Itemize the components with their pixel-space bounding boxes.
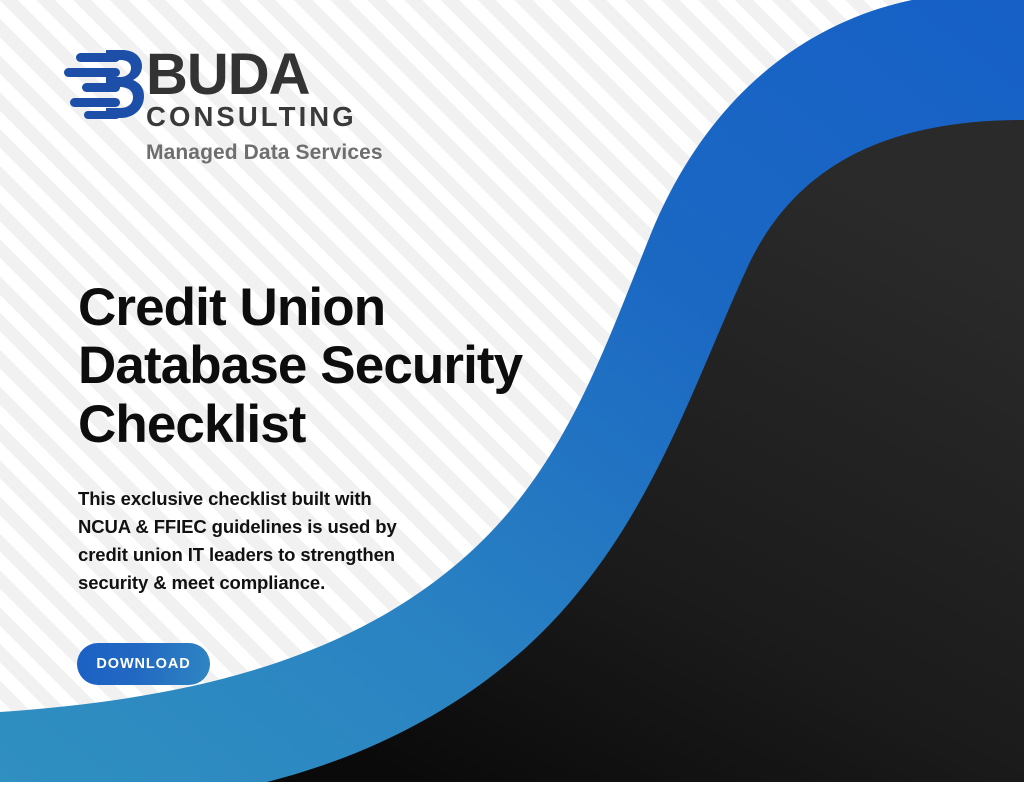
download-button[interactable]: DOWNLOAD [77, 643, 210, 685]
brand-logo: BUDA CONSULTING Managed Data Services [62, 46, 482, 165]
buda-b-speedlines-icon [62, 48, 144, 120]
logo-tagline: Managed Data Services [146, 141, 482, 165]
body-paragraph: This exclusive checklist built with NCUA… [78, 485, 478, 598]
logo-text-consulting: CONSULTING [146, 103, 357, 132]
body-line-1: This exclusive checklist built with [78, 485, 478, 513]
flyer-canvas: BUDA CONSULTING Managed Data Services Cr… [0, 0, 1024, 791]
content-column: BUDA CONSULTING Managed Data Services Cr… [0, 0, 660, 791]
bottom-white-strip [0, 782, 1024, 791]
logo-text-buda: BUDA [146, 47, 357, 102]
body-line-4: security & meet compliance. [78, 569, 478, 597]
body-line-3: credit union IT leaders to strengthen [78, 541, 478, 569]
page-title: Credit Union Database Security Checklist [78, 279, 648, 455]
headline-line-2: Database Security [78, 337, 648, 396]
headline-line-3: Checklist [78, 396, 648, 455]
headline-line-1: Credit Union [78, 279, 648, 338]
body-line-2: NCUA & FFIEC guidelines is used by [78, 513, 478, 541]
